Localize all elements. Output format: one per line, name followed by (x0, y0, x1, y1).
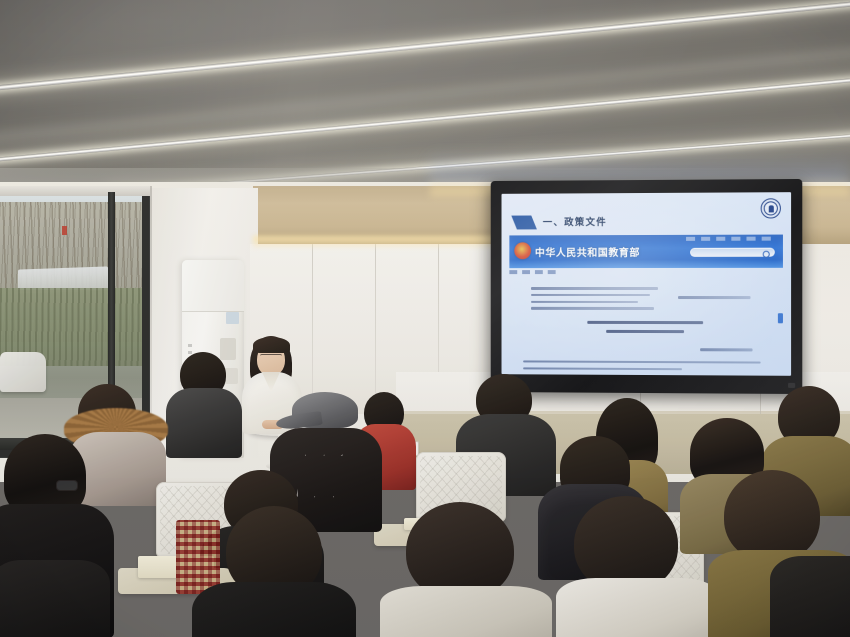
display-screen[interactable]: 一、政策文件 中华人民共和国教育部 (502, 192, 792, 376)
gov-website-banner: 中华人民共和国教育部 (509, 235, 783, 269)
student-coat (556, 578, 720, 637)
student-glasses-icon (56, 480, 78, 491)
presenter-hair-front (253, 337, 290, 353)
document-title-line-1 (587, 321, 703, 325)
meta-line (531, 294, 650, 297)
meta-line (531, 307, 654, 310)
cabinet-seam (375, 244, 376, 414)
student-coat (0, 560, 110, 637)
scrollbar-thumb[interactable] (778, 313, 783, 323)
university-seal-icon (761, 198, 781, 218)
classroom-scene: 一、政策文件 中华人民共和国教育部 (0, 0, 850, 637)
gov-search-box[interactable] (690, 248, 775, 257)
gov-banner-topnav (686, 237, 777, 241)
document-meta-right (678, 296, 751, 299)
document-body-line (523, 360, 761, 364)
student-coat (166, 388, 242, 458)
display-power-indicator (788, 383, 795, 388)
student-coat (380, 586, 552, 637)
window-header (0, 186, 150, 196)
gov-breadcrumb (509, 270, 560, 274)
cabinet-seam (312, 244, 313, 414)
flat-panel-display[interactable]: 一、政策文件 中华人民共和国教育部 (491, 179, 803, 394)
air-conditioner-vent (220, 338, 236, 360)
meta-line (531, 287, 658, 290)
student-coat (192, 582, 356, 637)
presentation-slide: 一、政策文件 中华人民共和国教育部 (502, 192, 792, 376)
national-emblem-icon (514, 242, 531, 259)
presenter-glasses-icon (260, 354, 282, 359)
plaid-scarf (176, 520, 220, 594)
document-title-line-2 (606, 330, 684, 334)
gov-site-name: 中华人民共和国教育部 (535, 244, 640, 259)
white-vehicle (0, 352, 46, 392)
student-head (724, 470, 820, 562)
document-number (700, 348, 752, 351)
cove-light-glow-center (253, 236, 503, 248)
document-body-line (523, 367, 682, 370)
air-conditioner-top-panel (182, 260, 244, 312)
slide-title: 一、政策文件 (543, 214, 607, 228)
slide-title-chevron-icon (511, 215, 537, 229)
student-coat (770, 556, 850, 637)
meta-line (531, 300, 638, 303)
document-meta-block (531, 287, 660, 314)
red-flag (62, 226, 67, 235)
air-conditioner-badge (226, 312, 239, 324)
